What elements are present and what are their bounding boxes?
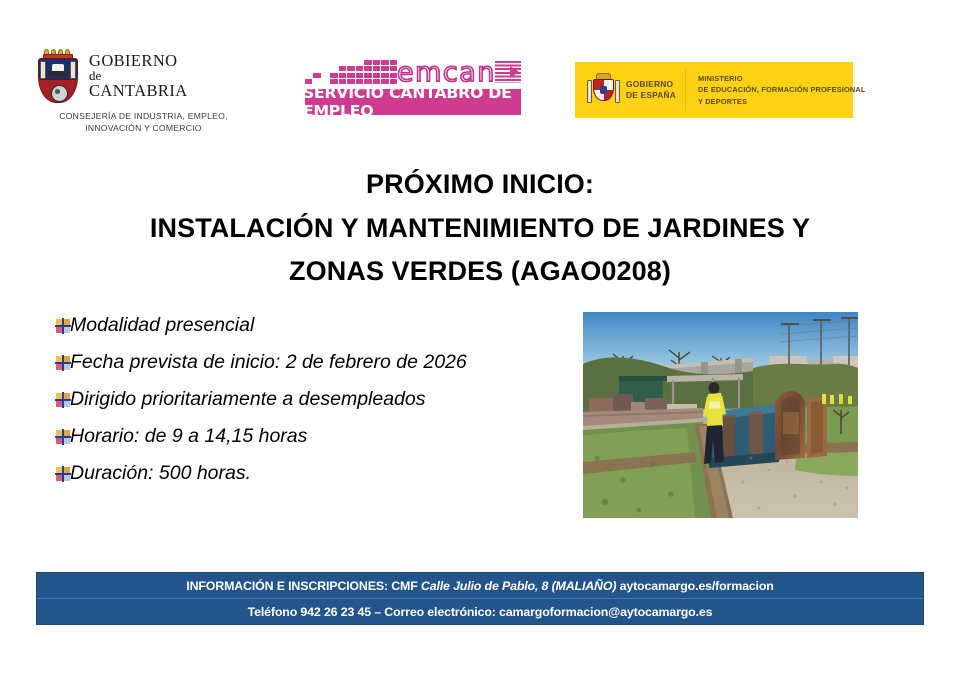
- list-item-label: Modalidad presencial: [70, 312, 254, 338]
- ministerio-line2: DE EDUCACIÓN, FORMACIÓN PROFESIONAL: [698, 84, 865, 95]
- poster-page: GOBIERNO de CANTABRIA CONSEJERÍA DE INDU…: [0, 0, 960, 679]
- logo-emcan: emcan SERVICIO CÁNTABRO DE EMPLEO: [305, 56, 521, 115]
- footer-line1-prefix: INFORMACIÓN E INSCRIPCIONES: CMF: [186, 579, 421, 593]
- ministerio-block: MINISTERIO DE EDUCACIÓN, FORMACIÓN PROFE…: [698, 73, 865, 106]
- list-item-label: Fecha prevista de inicio: 2 de febrero d…: [70, 349, 467, 375]
- course-photo: [583, 312, 858, 518]
- list-item: Modalidad presencial: [56, 312, 576, 349]
- footer-line1-web: aytocamargo.es/formacion: [616, 579, 773, 593]
- espana-line2: DE ESPAÑA: [626, 90, 676, 101]
- footer-line1-address: Calle Julio de Pablo, 8 (MALIAÑO): [421, 579, 616, 593]
- four-color-cross-bullet-icon: [56, 356, 70, 370]
- cantabria-subtitle-line1: CONSEJERÍA DE INDUSTRIA, EMPLEO,: [36, 111, 251, 123]
- footer-line-2-row: Teléfono 942 26 23 45 – Correo electróni…: [37, 599, 923, 624]
- list-item-label: Duración: 500 horas.: [70, 460, 251, 486]
- list-item-label: Dirigido prioritariamente a desempleados: [70, 386, 426, 412]
- logo-gobierno-de-espana: GOBIERNO DE ESPAÑA MINISTERIO DE EDUCACI…: [575, 62, 853, 118]
- cantabria-word-line1: GOBIERNO: [89, 53, 188, 70]
- header-logo-strip: GOBIERNO de CANTABRIA CONSEJERÍA DE INDU…: [0, 0, 960, 155]
- title-line-3: ZONAS VERDES (AGAO0208): [0, 250, 960, 294]
- list-item: Dirigido prioritariamente a desempleados: [56, 386, 576, 423]
- footer-line-1: INFORMACIÓN E INSCRIPCIONES: CMF Calle J…: [186, 579, 773, 593]
- list-item-label: Horario: de 9 a 14,15 horas: [70, 423, 307, 449]
- emcan-band-text: SERVICIO CÁNTABRO DE EMPLEO: [303, 84, 523, 120]
- emcan-band: SERVICIO CÁNTABRO DE EMPLEO: [305, 89, 521, 115]
- four-color-cross-bullet-icon: [56, 319, 70, 333]
- cantabria-subtitle-line2: INNOVACIÓN Y COMERCIO: [36, 123, 251, 135]
- ministerio-line1: MINISTERIO: [698, 73, 865, 84]
- course-details-list: Modalidad presencial Fecha prevista de i…: [56, 312, 576, 497]
- logo-gobierno-de-cantabria: GOBIERNO de CANTABRIA CONSEJERÍA DE INDU…: [36, 48, 251, 134]
- emcan-arrow-icon: [495, 61, 521, 83]
- espana-line1: GOBIERNO: [626, 79, 676, 90]
- emcan-dot-matrix-icon: [305, 60, 397, 84]
- four-color-cross-bullet-icon: [56, 430, 70, 444]
- footer-line-1-row: INFORMACIÓN E INSCRIPCIONES: CMF Calle J…: [37, 573, 923, 599]
- photo-illustration: [583, 312, 858, 518]
- cantabria-subtitle: CONSEJERÍA DE INDUSTRIA, EMPLEO, INNOVAC…: [36, 111, 251, 134]
- ministerio-line3: Y DEPORTES: [698, 96, 865, 107]
- espana-wordmark: GOBIERNO DE ESPAÑA: [626, 79, 676, 102]
- list-item: Duración: 500 horas.: [56, 460, 576, 497]
- list-item: Horario: de 9 a 14,15 horas: [56, 423, 576, 460]
- four-color-cross-bullet-icon: [56, 467, 70, 481]
- footer-contact-banner: INFORMACIÓN E INSCRIPCIONES: CMF Calle J…: [36, 572, 924, 625]
- page-title: PRÓXIMO INICIO: INSTALACIÓN Y MANTENIMIE…: [0, 163, 960, 294]
- title-line-2: INSTALACIÓN Y MANTENIMIENTO DE JARDINES …: [0, 207, 960, 251]
- cantabria-coat-of-arms-icon: [36, 48, 80, 104]
- four-color-cross-bullet-icon: [56, 393, 70, 407]
- footer-line-2: Teléfono 942 26 23 45 – Correo electróni…: [248, 605, 713, 619]
- cantabria-word-line3: CANTABRIA: [89, 83, 188, 100]
- title-line-1: PRÓXIMO INICIO:: [0, 163, 960, 207]
- list-item: Fecha prevista de inicio: 2 de febrero d…: [56, 349, 576, 386]
- cantabria-wordmark: GOBIERNO de CANTABRIA: [89, 53, 188, 100]
- spain-coat-of-arms-icon: [587, 73, 620, 107]
